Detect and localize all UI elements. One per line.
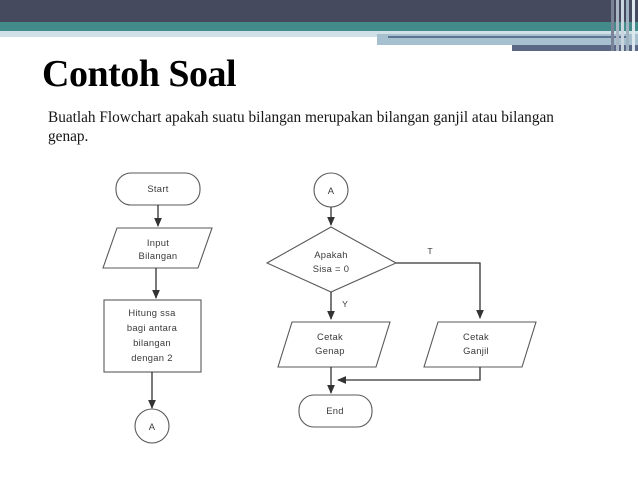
connector-decision-no <box>396 263 480 318</box>
node-output-genap-line2: Genap <box>315 345 345 356</box>
node-output-ganjil-line2: Ganjil <box>463 345 489 356</box>
node-output-ganjil: Cetak Ganjil <box>424 322 536 367</box>
node-start: Start <box>116 173 200 205</box>
node-output-genap-line1: Cetak <box>317 331 343 342</box>
node-end: End <box>299 395 372 427</box>
branch-label-yes: Y <box>342 299 348 309</box>
node-connector-a-out: A <box>135 409 169 443</box>
connector-ganjil-merge <box>338 367 480 380</box>
node-process-line4: dengan 2 <box>131 352 173 363</box>
node-output-genap: Cetak Genap <box>278 322 390 367</box>
node-connector-a-in: A <box>314 173 348 207</box>
node-input-bilangan: Input Bilangan <box>103 228 212 268</box>
node-decision-sisa: Apakah Sisa = 0 <box>267 227 396 292</box>
node-decision-line1: Apakah <box>314 249 348 260</box>
node-decision-line2: Sisa = 0 <box>313 263 350 274</box>
branch-label-no: T <box>427 246 433 256</box>
slide-canvas: Contoh Soal Buatlah Flowchart apakah sua… <box>0 0 638 479</box>
node-process-line1: Hitung ssa <box>128 307 176 318</box>
node-connector-a-out-label: A <box>149 421 156 432</box>
node-connector-a-in-label: A <box>328 185 335 196</box>
flowchart-diagram: Start Input Bilangan Hitung ssa bagi ant… <box>0 0 638 479</box>
node-output-ganjil-line1: Cetak <box>463 331 489 342</box>
node-start-label: Start <box>147 183 168 194</box>
node-end-label: End <box>326 405 344 416</box>
node-input-label-line2: Bilangan <box>139 250 178 261</box>
node-process-line2: bagi antara <box>127 322 178 333</box>
node-process-hitung-sisa: Hitung ssa bagi antara bilangan dengan 2 <box>104 300 201 372</box>
node-process-line3: bilangan <box>133 337 171 348</box>
node-input-label-line1: Input <box>147 237 169 248</box>
